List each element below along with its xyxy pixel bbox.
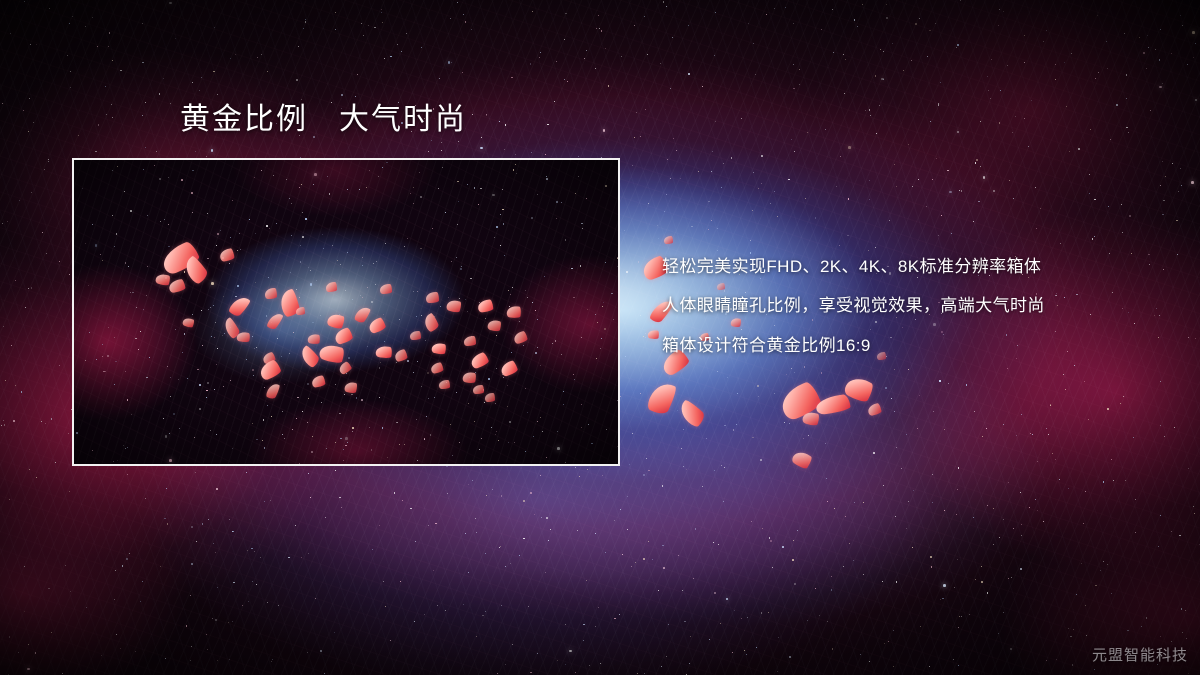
petal bbox=[815, 394, 851, 416]
petal bbox=[645, 379, 678, 417]
body-line-2: 人体眼睛瞳孔比例，享受视觉效果，高端大气时尚 bbox=[662, 295, 1162, 316]
petal bbox=[647, 329, 659, 340]
petal bbox=[801, 410, 820, 427]
watermark: 元盟智能科技 bbox=[1092, 644, 1188, 665]
petal bbox=[842, 373, 875, 405]
framed-photo-vignette bbox=[74, 160, 618, 464]
framed-photo bbox=[72, 158, 620, 466]
body-copy: 轻松完美实现FHD、2K、4K、8K标准分辨率箱体 人体眼睛瞳孔比例，享受视觉效… bbox=[662, 256, 1162, 356]
page-title: 黄金比例 大气时尚 bbox=[180, 102, 467, 138]
petal bbox=[867, 403, 882, 416]
petal bbox=[777, 380, 823, 422]
petal bbox=[664, 236, 673, 244]
body-line-3: 箱体设计符合黄金比例16:9 bbox=[662, 335, 1162, 356]
framed-photo-content bbox=[74, 160, 618, 464]
presentation-slide: 黄金比例 大气时尚 轻松完美实现FHD、2K、4K、8K标准分辨率箱体 人体眼睛… bbox=[0, 0, 1200, 675]
petal bbox=[676, 398, 707, 429]
petal bbox=[790, 448, 813, 471]
body-line-1: 轻松完美实现FHD、2K、4K、8K标准分辨率箱体 bbox=[662, 256, 1162, 277]
